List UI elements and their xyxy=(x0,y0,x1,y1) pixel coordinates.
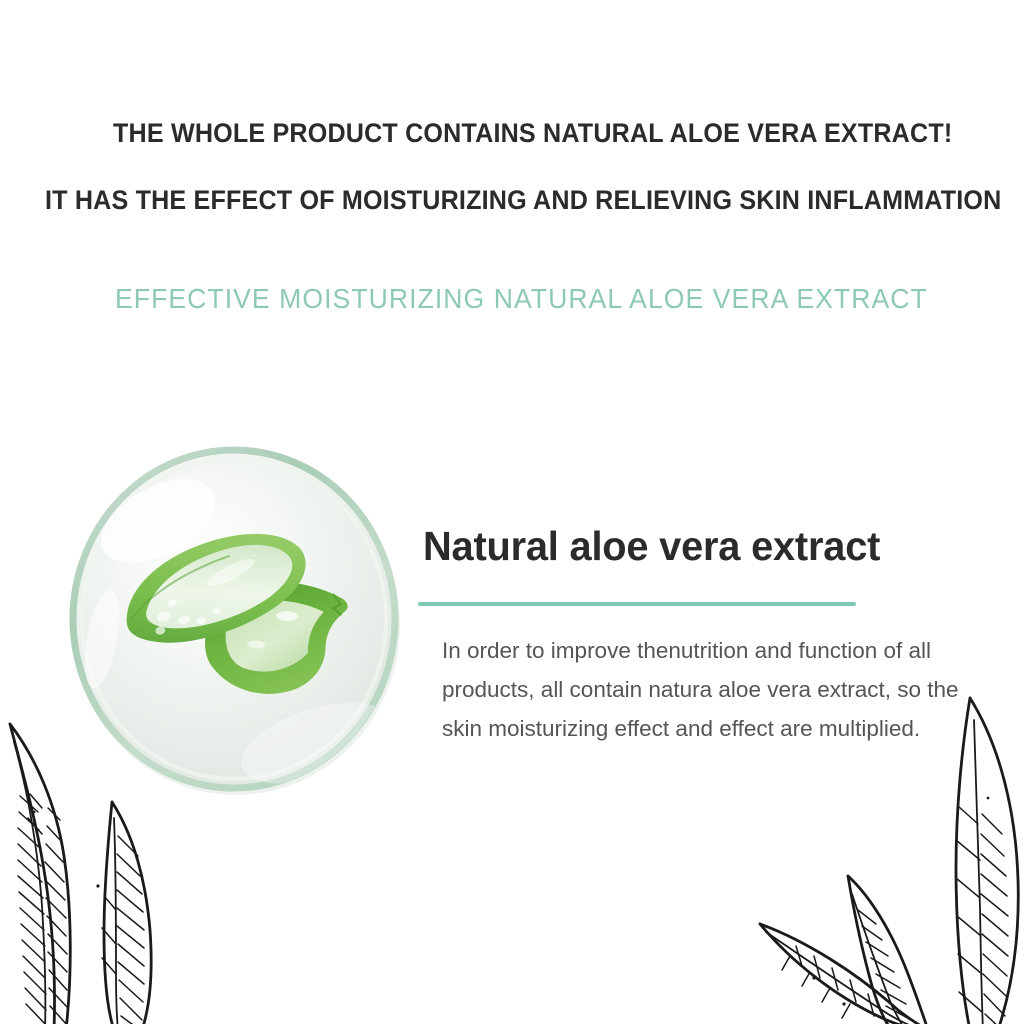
promo-page: THE WHOLE PRODUCT CONTAINS NATURAL ALOE … xyxy=(0,0,1024,1024)
feature-description: In order to improve thenutrition and fun… xyxy=(442,631,962,748)
leaf-shape-diagonal xyxy=(760,924,930,1024)
subtitle-tagline: EFFECTIVE MOISTURIZING NATURAL ALOE VERA… xyxy=(115,283,928,315)
leaf-shape-tall-right xyxy=(956,698,1018,1024)
title-divider-rule xyxy=(418,602,856,606)
leaf-hatching-diagonal xyxy=(782,946,874,1018)
feature-title: Natural aloe vera extract xyxy=(423,523,880,570)
leaf-shape-short xyxy=(102,802,151,1024)
leaf-hatching-middle xyxy=(858,910,911,1020)
leaf-shape-middle xyxy=(848,876,928,1024)
gel-droplet-image xyxy=(66,443,402,795)
leaf-hatching-short xyxy=(117,836,144,1024)
leaf-hatching-tall xyxy=(18,796,68,1024)
headline-primary: THE WHOLE PRODUCT CONTAINS NATURAL ALOE … xyxy=(113,118,952,149)
headline-secondary: IT HAS THE EFFECT OF MOISTURIZING AND RE… xyxy=(45,185,1001,216)
leaf-hatching-tall-right xyxy=(981,814,1008,1024)
leaf-shape-tall xyxy=(10,724,70,1024)
